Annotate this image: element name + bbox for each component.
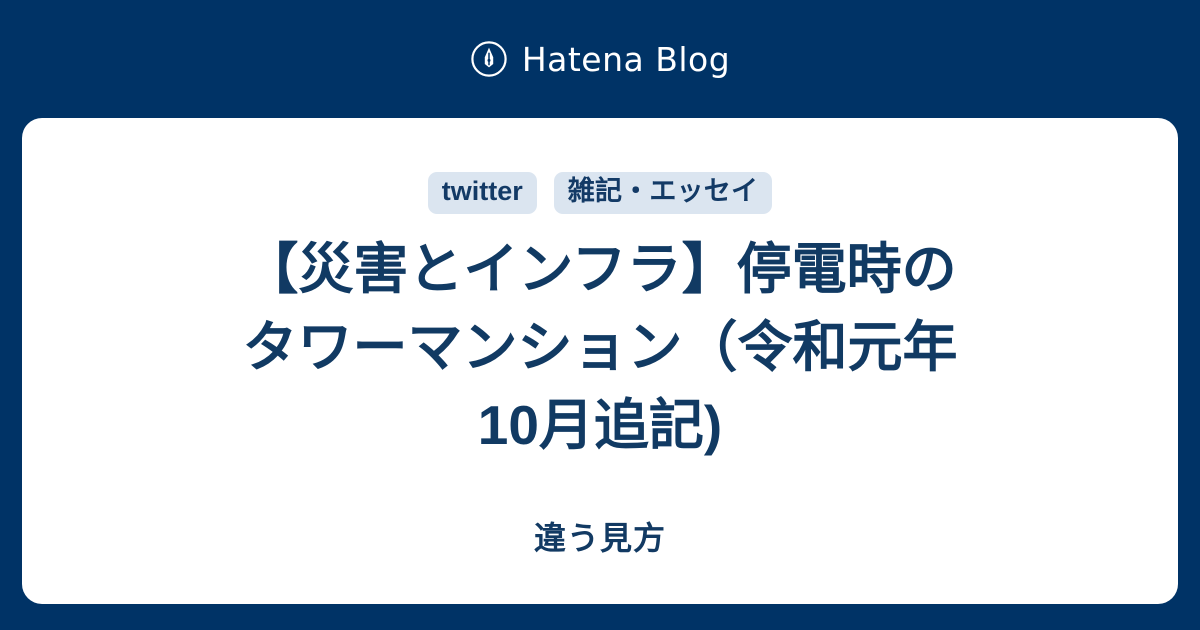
entry-title-line-2: タワーマンション（令和元年 bbox=[242, 316, 957, 378]
og-image-card: Hatena Blog twitter 雑記・エッセイ 【災害とインフラ】停電時… bbox=[0, 0, 1200, 630]
pen-nib-in-circle-icon bbox=[470, 40, 508, 78]
entry-panel: twitter 雑記・エッセイ 【災害とインフラ】停電時の タワーマンション（令… bbox=[22, 118, 1178, 604]
entry-title-line-1: 【災害とインフラ】停電時の bbox=[243, 238, 956, 300]
entry-tag-list: twitter 雑記・エッセイ bbox=[428, 172, 772, 214]
blog-name[interactable]: 違う見方 bbox=[534, 518, 666, 560]
entry-title: 【災害とインフラ】停電時の タワーマンション（令和元年 10月追記) bbox=[242, 230, 957, 464]
brand-name: Hatena Blog bbox=[522, 43, 730, 76]
blog-name-container: 違う見方 bbox=[22, 518, 1178, 560]
brand-header: Hatena Blog bbox=[0, 0, 1200, 118]
entry-tag-twitter[interactable]: twitter bbox=[428, 172, 537, 214]
entry-tag-essay[interactable]: 雑記・エッセイ bbox=[554, 172, 772, 214]
entry-title-line-3: 10月追記) bbox=[478, 394, 723, 456]
